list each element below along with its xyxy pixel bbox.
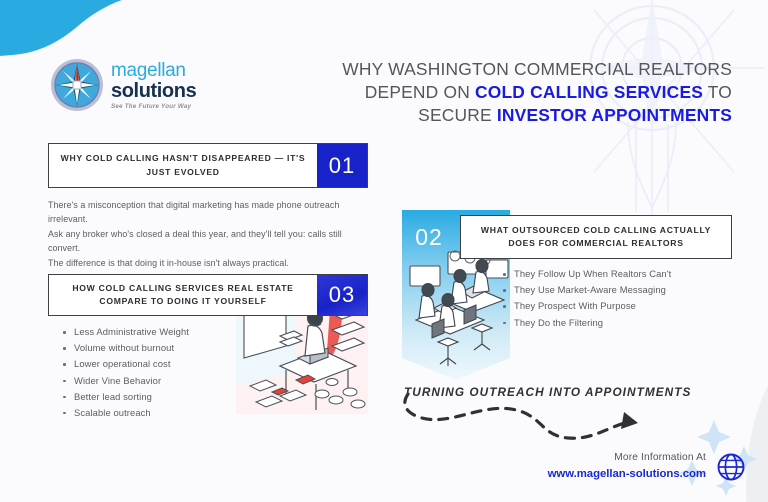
- more-info-label: More Information At: [548, 451, 706, 465]
- section-03: HOW COLD CALLING SERVICES REAL ESTATE CO…: [48, 274, 368, 414]
- list-item: Scalable outreach: [74, 405, 289, 421]
- headline-line-2-suffix: TO: [703, 82, 732, 102]
- globe-icon: [716, 452, 746, 482]
- headline-highlight-2: INVESTOR APPOINTMENTS: [497, 105, 732, 125]
- list-item: They Follow Up When Realtors Can't: [514, 266, 758, 282]
- section-01-paragraph-3: The difference is that doing it in-house…: [48, 256, 370, 270]
- top-left-swoosh-shape: [0, 0, 128, 60]
- logo-name-line1: magellan: [111, 61, 196, 80]
- headline-line-3-prefix: SECURE: [418, 105, 497, 125]
- list-item: Less Administrative Weight: [74, 324, 289, 340]
- compass-rose-icon: [50, 58, 104, 112]
- infographic-canvas: magellan solutions See The Future Your W…: [0, 0, 768, 502]
- section-01-number: 01: [317, 144, 367, 187]
- logo-name-line2: solutions: [111, 81, 196, 101]
- section-02-bullet-list: They Follow Up When Realtors Can't They …: [488, 266, 758, 331]
- list-item: Wider Vine Behavior: [74, 373, 289, 389]
- headline-line-1: WHY WASHINGTON COMMERCIAL REALTORS: [342, 59, 732, 79]
- section-02-header: WHAT OUTSOURCED COLD CALLING ACTUALLY DO…: [460, 215, 732, 259]
- logo-wordmark: magellan solutions See The Future Your W…: [111, 59, 196, 110]
- list-item: Better lead sorting: [74, 389, 289, 405]
- section-02: 02 WHAT OUTSOURCED COLD CALLING ACTUALLY…: [398, 208, 732, 383]
- headline-line-2-prefix: DEPEND ON: [365, 82, 475, 102]
- list-item: They Do the Filtering: [514, 315, 758, 331]
- section-03-header: HOW COLD CALLING SERVICES REAL ESTATE CO…: [48, 274, 368, 316]
- website-link[interactable]: www.magellan-solutions.com: [548, 467, 706, 482]
- list-item: They Use Market-Aware Messaging: [514, 282, 758, 298]
- section-01-header: WHY COLD CALLING HASN'T DISAPPEARED — IT…: [48, 143, 368, 188]
- page-title: WHY WASHINGTON COMMERCIAL REALTORS DEPEN…: [250, 58, 732, 127]
- section-03-bullet-list: Less Administrative Weight Volume withou…: [48, 324, 289, 421]
- list-item: They Prospect With Purpose: [514, 298, 758, 314]
- section-03-title: HOW COLD CALLING SERVICES REAL ESTATE CO…: [49, 275, 317, 315]
- section-02-number: 02: [398, 215, 460, 259]
- section-01-paragraph-1: There's a misconception that digital mar…: [48, 198, 370, 227]
- cta-block: More Information At www.magellan-solutio…: [548, 451, 706, 482]
- list-item: Volume without burnout: [74, 340, 289, 356]
- dashed-curved-arrow-icon: [392, 392, 712, 454]
- brand-logo[interactable]: magellan solutions See The Future Your W…: [50, 54, 202, 116]
- section-01: WHY COLD CALLING HASN'T DISAPPEARED — IT…: [48, 143, 368, 270]
- section-02-title: WHAT OUTSOURCED COLD CALLING ACTUALLY DO…: [461, 216, 731, 258]
- list-item: Lower operational cost: [74, 356, 289, 372]
- section-01-body: There's a misconception that digital mar…: [48, 198, 370, 270]
- logo-tagline: See The Future Your Way: [111, 104, 196, 110]
- section-01-paragraph-2: Ask any broker who's closed a deal this …: [48, 227, 370, 256]
- section-01-title: WHY COLD CALLING HASN'T DISAPPEARED — IT…: [49, 144, 317, 187]
- section-03-number: 03: [317, 275, 367, 315]
- headline-highlight-1: COLD CALLING SERVICES: [475, 82, 703, 102]
